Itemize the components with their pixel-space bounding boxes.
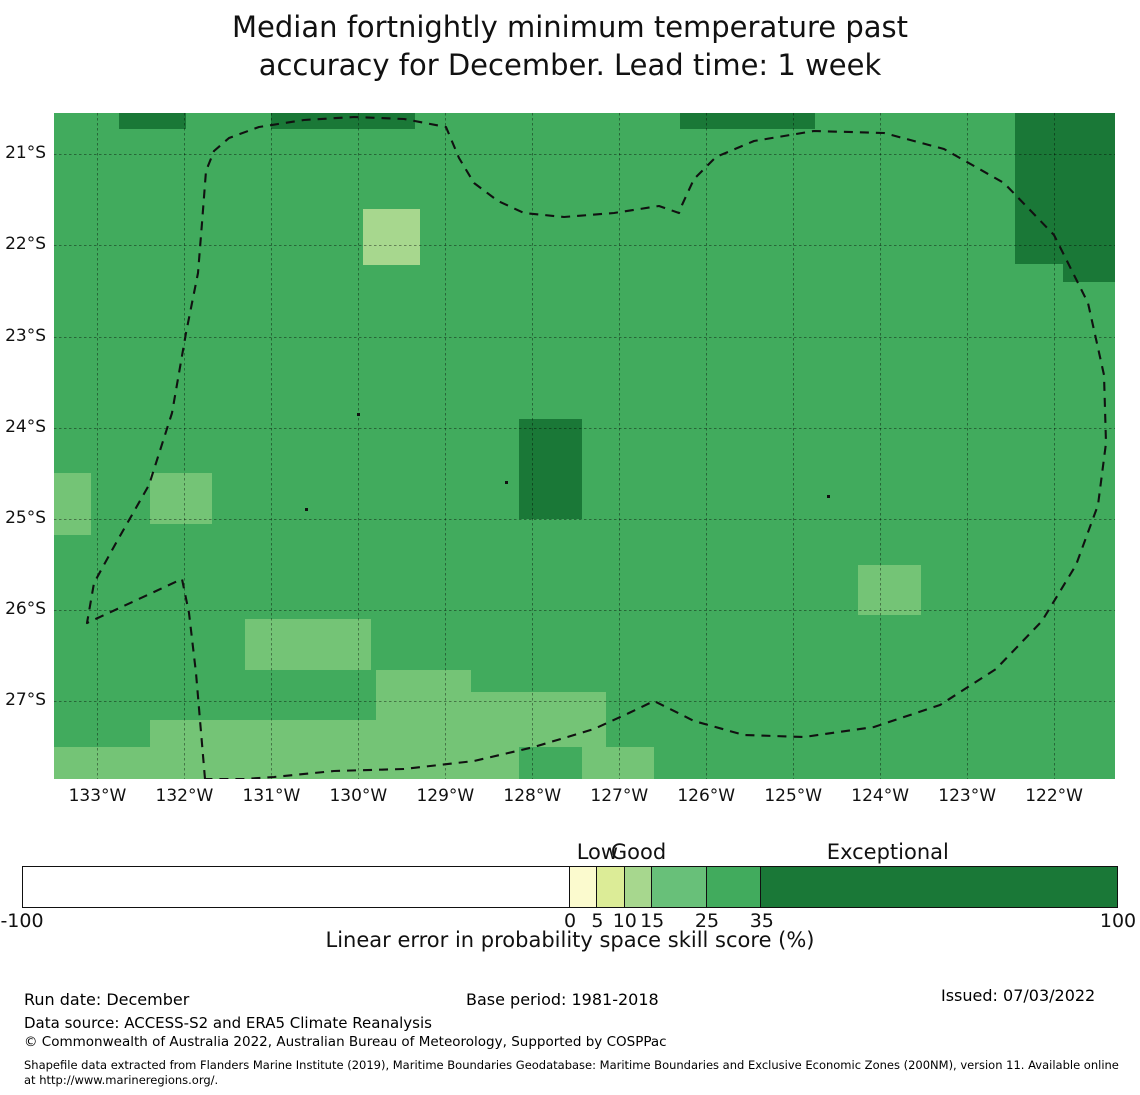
issued-date-text: Issued: 07/03/2022 — [941, 986, 1095, 1005]
y-axis-tick-label: 26°S — [0, 599, 46, 619]
colorbar-segment[interactable] — [652, 867, 707, 907]
colorbar-segment[interactable] — [570, 867, 597, 907]
eez-boundary-line — [54, 113, 1115, 779]
colorbar-category-label: Good — [519, 840, 759, 864]
run-date-text: Run date: December — [24, 990, 189, 1009]
heatmap-plot-area[interactable] — [54, 113, 1115, 779]
title-line-1: Median fortnightly minimum temperature p… — [232, 10, 908, 44]
colorbar-segment[interactable] — [23, 867, 570, 907]
colorbar-category-label: Exceptional — [768, 840, 1008, 864]
x-axis-tick-label: 122°W — [994, 786, 1114, 806]
page-title: Median fortnightly minimum temperature p… — [0, 8, 1140, 84]
copyright-text: © Commonwealth of Australia 2022, Austra… — [24, 1034, 667, 1050]
colorbar-segment[interactable] — [625, 867, 652, 907]
colorbar[interactable] — [22, 866, 1118, 908]
shapefile-note-text: Shapefile data extracted from Flanders M… — [24, 1058, 1122, 1088]
base-period-text: Base period: 1981-2018 — [466, 990, 659, 1009]
y-axis-tick-label: 21°S — [0, 143, 46, 163]
y-axis-tick-label: 25°S — [0, 508, 46, 528]
title-line-2: accuracy for December. Lead time: 1 week — [0, 46, 1140, 84]
colorbar-segment[interactable] — [597, 867, 624, 907]
data-source-text: Data source: ACCESS-S2 and ERA5 Climate … — [24, 1014, 432, 1032]
y-axis-tick-label: 22°S — [0, 234, 46, 254]
y-axis-tick-label: 24°S — [0, 417, 46, 437]
colorbar-segment[interactable] — [761, 867, 1117, 907]
y-axis-tick-label: 27°S — [0, 690, 46, 710]
colorbar-segment[interactable] — [707, 867, 762, 907]
colorbar-axis-title: Linear error in probability space skill … — [0, 928, 1140, 952]
y-axis-tick-label: 23°S — [0, 326, 46, 346]
